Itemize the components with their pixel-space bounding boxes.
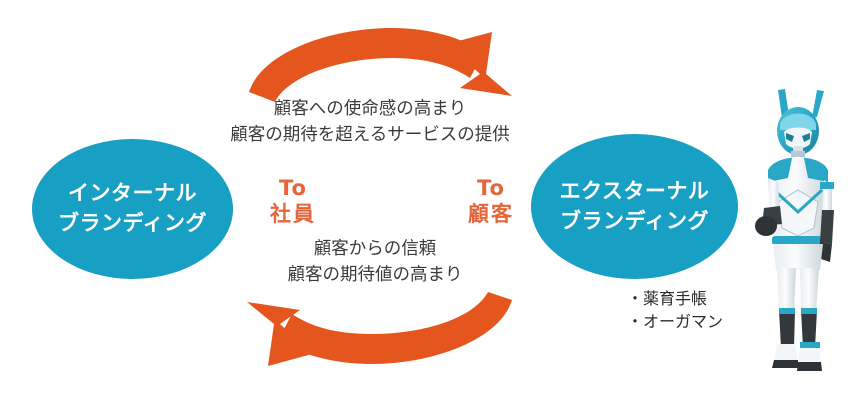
- mascot-hero-character: [744, 86, 850, 374]
- knee-band-left: [779, 308, 795, 314]
- brand-asset-item-1: ・オーガマン: [627, 311, 723, 334]
- node-internal-line2: ブランディング: [58, 209, 207, 239]
- arrow-internal-to-external: [249, 28, 512, 102]
- to-label-employees: To 社員: [245, 175, 341, 228]
- forearm-right: [820, 210, 834, 244]
- flow-caption-bottom-line2: 顧客の期待値の高まり: [230, 262, 520, 288]
- node-internal-line1: インターナル: [68, 179, 197, 209]
- helmet-horn-right: [812, 90, 824, 118]
- thigh-right: [800, 268, 819, 312]
- knee-band-right: [801, 308, 817, 314]
- brand-asset-item-0: ・薬育手帳: [627, 288, 723, 311]
- thigh-left: [777, 268, 796, 312]
- node-external-line2: ブランディング: [560, 207, 709, 237]
- flow-caption-top: 顧客への使命感の高まり 顧客の期待を超えるサービスの提供: [185, 96, 555, 149]
- hip-armor: [773, 244, 823, 270]
- arm-band-right: [820, 182, 834, 189]
- arrow-external-to-internal: [247, 292, 512, 366]
- to-label-employees-prefix: To: [245, 175, 341, 201]
- shin-left: [779, 310, 795, 348]
- node-external-line1: エクスターナル: [560, 177, 710, 207]
- glove-left: [755, 216, 777, 236]
- boot-sole-left: [772, 360, 798, 368]
- brand-asset-list: ・薬育手帳 ・オーガマン: [627, 288, 723, 333]
- to-label-customers-prefix: To: [443, 175, 539, 201]
- boot-sole-right: [797, 362, 822, 371]
- node-external-branding[interactable]: エクスターナル ブランディング: [531, 134, 738, 279]
- to-label-customers: To 顧客: [443, 175, 539, 228]
- to-label-employees-target: 社員: [245, 201, 341, 227]
- flow-caption-top-line1: 顧客への使命感の高まり: [185, 96, 555, 122]
- node-internal-branding[interactable]: インターナル ブランディング: [32, 139, 233, 279]
- flow-caption-bottom-line1: 顧客からの信頼: [230, 236, 520, 262]
- flow-caption-top-line2: 顧客の期待を超えるサービスの提供: [185, 122, 555, 148]
- to-label-customers-target: 顧客: [443, 201, 539, 227]
- belt: [772, 236, 824, 245]
- branding-cycle-diagram: インターナル ブランディング エクスターナル ブランディング 顧客への使命感の高…: [0, 0, 860, 400]
- boot-band-right: [800, 342, 820, 348]
- boot-left: [774, 344, 798, 362]
- flow-caption-bottom: 顧客からの信頼 顧客の期待値の高まり: [230, 236, 520, 289]
